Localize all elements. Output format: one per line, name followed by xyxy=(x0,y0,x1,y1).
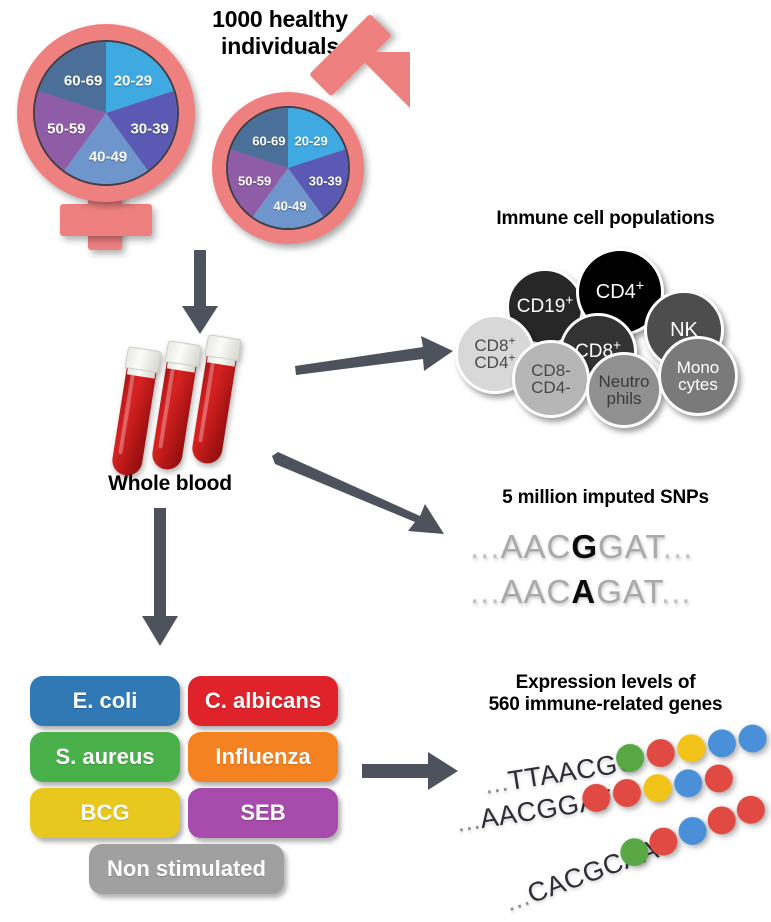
snp-sequence-group: ...AACGGAT... ...AACAGAT... xyxy=(470,528,760,618)
snp-ellipsis-right: ... xyxy=(661,573,692,610)
arrow-stimuli-to-expression xyxy=(362,750,460,794)
age-group-label-50-59: 50-59 xyxy=(238,174,271,189)
stimulus-label: C. albicans xyxy=(205,688,321,714)
cell-label-neutrophils: Neutrophils xyxy=(598,373,649,408)
expression-bead xyxy=(675,732,707,764)
immune-populations-title: Immune cell populations xyxy=(440,208,771,230)
gene-expression-strand-group: ...TTAACGG ...AACGGAT ...CACGCAA xyxy=(455,730,771,910)
age-group-label-50-59: 50-59 xyxy=(47,120,85,137)
female-symbol-stem-cross xyxy=(60,204,152,236)
male-gender-symbol: 20-2930-3940-4950-5960-69 xyxy=(196,44,426,254)
cell-monocytes: Monocytes xyxy=(658,336,738,416)
age-group-label-30-39: 30-39 xyxy=(130,120,168,137)
blood-collection-tubes-icon xyxy=(118,336,248,476)
arrow-blood-to-stimuli xyxy=(130,508,190,648)
snp-variant-allele: G xyxy=(571,528,598,565)
snp-sequence-row: ...AACAGAT... xyxy=(470,573,691,611)
cell-label-cd8-cd4-dn: CD8-CD4- xyxy=(531,362,571,397)
snp-prefix: AAC xyxy=(501,573,572,610)
figure-canvas: 1000 healthy individuals 20-2930-3940-49… xyxy=(0,0,771,922)
expression-bead xyxy=(642,772,674,804)
stimulus-c-albicans[interactable]: C. albicans xyxy=(188,676,338,726)
age-group-label-40-49: 40-49 xyxy=(273,198,306,213)
stimulus-bcg[interactable]: BCG xyxy=(30,788,180,838)
stimulus-label: S. aureus xyxy=(55,744,154,770)
stimulus-non-stimulated[interactable]: Non stimulated xyxy=(89,844,284,894)
immune-cell-population-group: CD19+ CD4+ NK CD8+CD4+ CD8+ CD8-CD4- Neu… xyxy=(455,240,765,420)
snp-suffix: GAT xyxy=(596,573,661,610)
age-group-label-40-49: 40-49 xyxy=(89,149,127,166)
stimulus-s-aureus[interactable]: S. aureus xyxy=(30,732,180,782)
snp-ellipsis-left: ... xyxy=(470,573,501,610)
expression-bead xyxy=(704,802,740,838)
arrow-cohort-to-blood xyxy=(170,250,230,336)
female-gender-symbol: 20-2930-3940-4950-5960-69 xyxy=(8,14,218,254)
stimuli-panel: E. coli C. albicans S. aureus Influenza … xyxy=(30,676,350,896)
expression-bead xyxy=(703,762,735,794)
expression-bead xyxy=(706,727,738,759)
stimulus-seb[interactable]: SEB xyxy=(188,788,338,838)
snp-variant-allele: A xyxy=(571,573,596,610)
stimulus-label: Non stimulated xyxy=(107,856,266,882)
arrow-blood-to-immune xyxy=(295,330,455,380)
age-group-label-30-39: 30-39 xyxy=(309,174,342,189)
male-age-pie-chart: 20-2930-3940-4950-5960-69 xyxy=(226,106,350,230)
whole-blood-label: Whole blood xyxy=(60,472,280,497)
expression-bead xyxy=(737,723,769,755)
expression-title-line1: Expression levels of xyxy=(440,672,771,694)
stimulus-label: SEB xyxy=(240,800,285,826)
snp-sequence-row: ...AACGGAT... xyxy=(470,528,693,566)
expression-title-line2: 560 immune-related genes xyxy=(440,694,771,716)
cell-label-cd19: CD19+ xyxy=(517,297,574,316)
stimulus-label: Influenza xyxy=(215,744,310,770)
expression-bead xyxy=(672,767,704,799)
stimulus-influenza[interactable]: Influenza xyxy=(188,732,338,782)
expression-bead xyxy=(675,813,711,849)
snps-title: 5 million imputed SNPs xyxy=(440,487,771,509)
cell-label-cd4: CD4+ xyxy=(596,282,644,302)
stimulus-e-coli[interactable]: E. coli xyxy=(30,676,180,726)
age-group-label-60-69: 60-69 xyxy=(252,133,285,148)
cell-label-monocytes: Monocytes xyxy=(677,359,720,394)
expression-title: Expression levels of 560 immune-related … xyxy=(440,672,771,717)
age-group-label-20-29: 20-29 xyxy=(295,133,328,148)
snp-ellipsis-left: ... xyxy=(470,528,501,565)
cell-neutrophils: Neutrophils xyxy=(586,352,662,428)
expression-bead xyxy=(611,777,643,809)
cell-cd8-cd4-double-negative: CD8-CD4- xyxy=(512,340,590,418)
arrow-blood-to-snps xyxy=(272,452,452,542)
stimulus-label: BCG xyxy=(81,800,130,826)
age-group-label-60-69: 60-69 xyxy=(64,72,102,89)
snp-suffix: GAT xyxy=(598,528,663,565)
female-age-pie-chart: 20-2930-3940-4950-5960-69 xyxy=(33,40,179,186)
stimulus-label: E. coli xyxy=(73,688,138,714)
cell-label-cd8-cd4-dp: CD8+CD4+ xyxy=(474,337,515,372)
expression-bead xyxy=(645,737,677,769)
snp-ellipsis-right: ... xyxy=(663,528,694,565)
age-group-label-20-29: 20-29 xyxy=(114,72,152,89)
snp-prefix: AAC xyxy=(501,528,572,565)
